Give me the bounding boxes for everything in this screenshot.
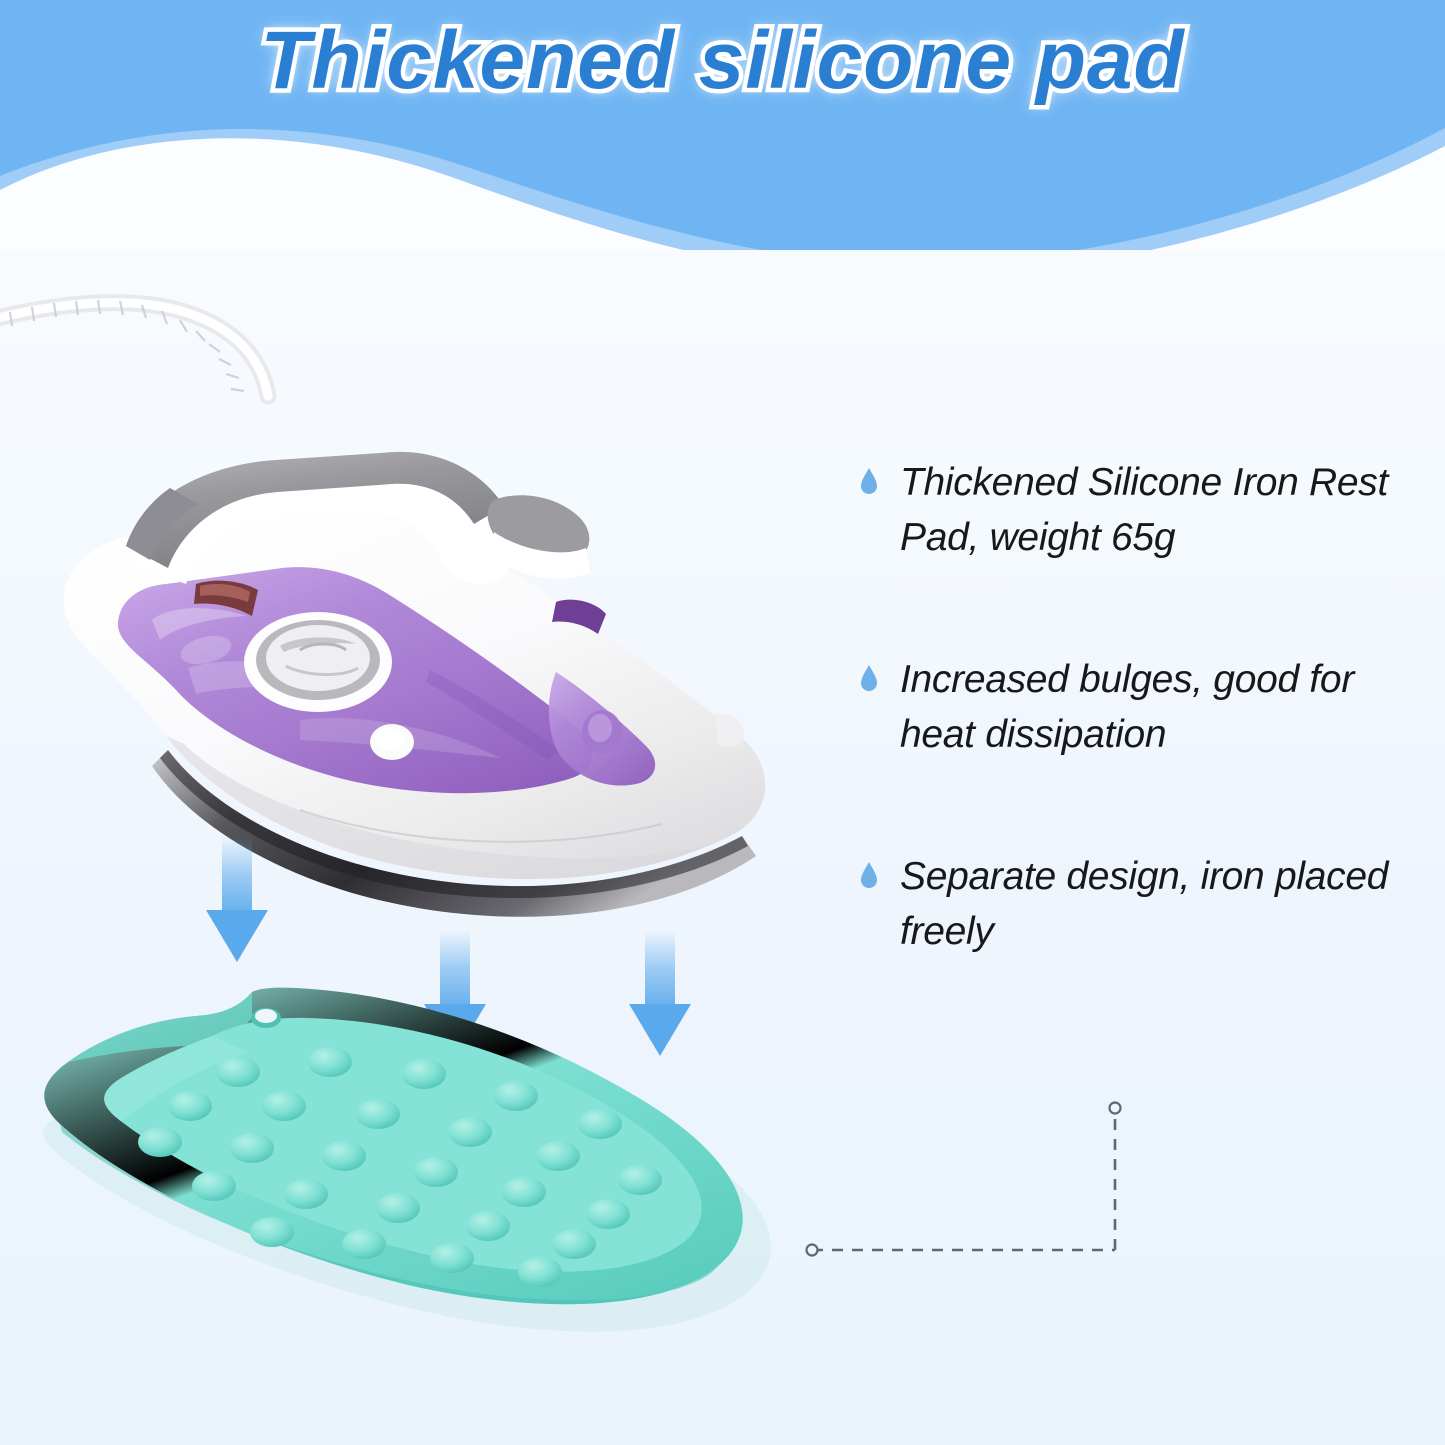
feature-text: Separate design, iron placed freely xyxy=(900,849,1430,960)
header-banner: Thickened silicone pad xyxy=(0,0,1445,250)
dimension-callout xyxy=(780,1080,1180,1300)
steam-iron xyxy=(64,452,766,917)
feature-text: Thickened Silicone Iron Rest Pad, weight… xyxy=(900,455,1430,566)
feature-list: Thickened Silicone Iron Rest Pad, weight… xyxy=(860,455,1430,1045)
iron-tip-nub xyxy=(716,714,744,747)
pad-hanging-hole xyxy=(251,1008,281,1028)
feature-item: Thickened Silicone Iron Rest Pad, weight… xyxy=(860,455,1430,566)
feature-item: Separate design, iron placed freely xyxy=(860,849,1430,960)
callout-endpoint-end xyxy=(1110,1103,1121,1114)
callout-endpoint-start xyxy=(807,1245,818,1256)
arrow-right xyxy=(629,930,691,1056)
infographic-page: Thickened silicone pad xyxy=(0,0,1445,1445)
temperature-dial xyxy=(244,612,392,712)
feature-item: Increased bulges, good for heat dissipat… xyxy=(860,652,1430,763)
product-illustration xyxy=(0,250,860,1445)
iron-drop-bullet-icon xyxy=(860,665,878,696)
power-cord xyxy=(0,300,268,396)
feature-text: Increased bulges, good for heat dissipat… xyxy=(900,652,1430,763)
iron-drop-bullet-icon xyxy=(860,862,878,893)
page-title: Thickened silicone pad xyxy=(0,10,1445,113)
iron-drop-bullet-icon xyxy=(860,468,878,499)
